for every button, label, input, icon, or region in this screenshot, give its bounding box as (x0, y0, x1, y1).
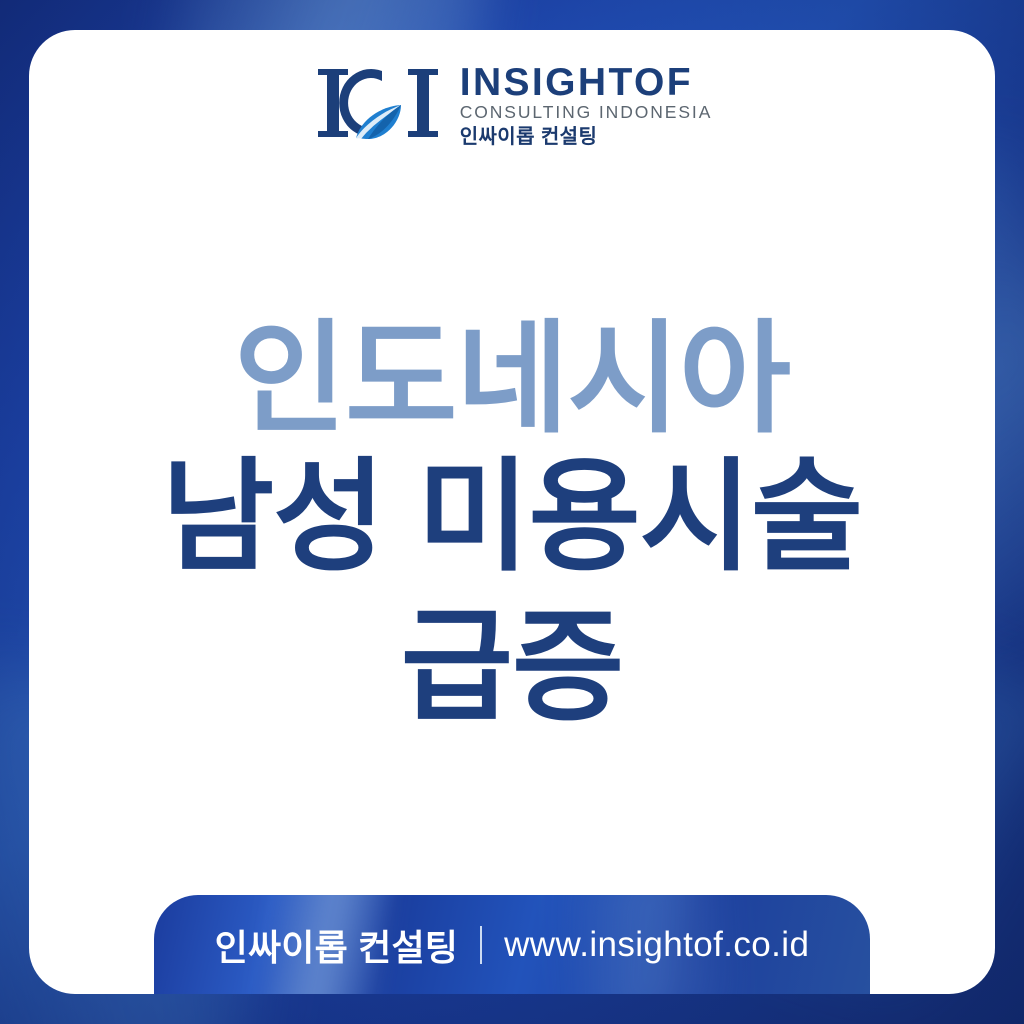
brand-logo-lockup: INSIGHTOF CONSULTING INDONESIA 인싸이롭 컨설팅 (29, 59, 995, 151)
footer-website-url[interactable]: www.insightof.co.id (504, 925, 809, 965)
footer-bar: 인싸이롭 컨설팅 www.insightof.co.id (154, 895, 870, 994)
brand-name-korean: 인싸이롭 컨설팅 (460, 125, 713, 149)
brand-subtitle: CONSULTING INDONESIA (460, 103, 713, 121)
footer-brand-label: 인싸이롭 컨설팅 (215, 919, 458, 971)
leaf-icon (356, 105, 401, 139)
headline-line-3: 급증 (29, 592, 995, 742)
brand-wordmark: INSIGHTOF CONSULTING INDONESIA 인싸이롭 컨설팅 (460, 61, 713, 148)
content-card: INSIGHTOF CONSULTING INDONESIA 인싸이롭 컨설팅 … (29, 30, 995, 994)
headline-block: 인도네시아 남성 미용시술 급증 (29, 316, 995, 742)
social-card-canvas: INSIGHTOF CONSULTING INDONESIA 인싸이롭 컨설팅 … (0, 0, 1024, 1024)
brand-name: INSIGHTOF (460, 63, 713, 102)
headline-line-2: 남성 미용시술 (29, 442, 995, 592)
ici-monogram-icon (312, 59, 444, 151)
headline-line-1: 인도네시아 (29, 316, 995, 442)
footer-divider (480, 926, 482, 964)
